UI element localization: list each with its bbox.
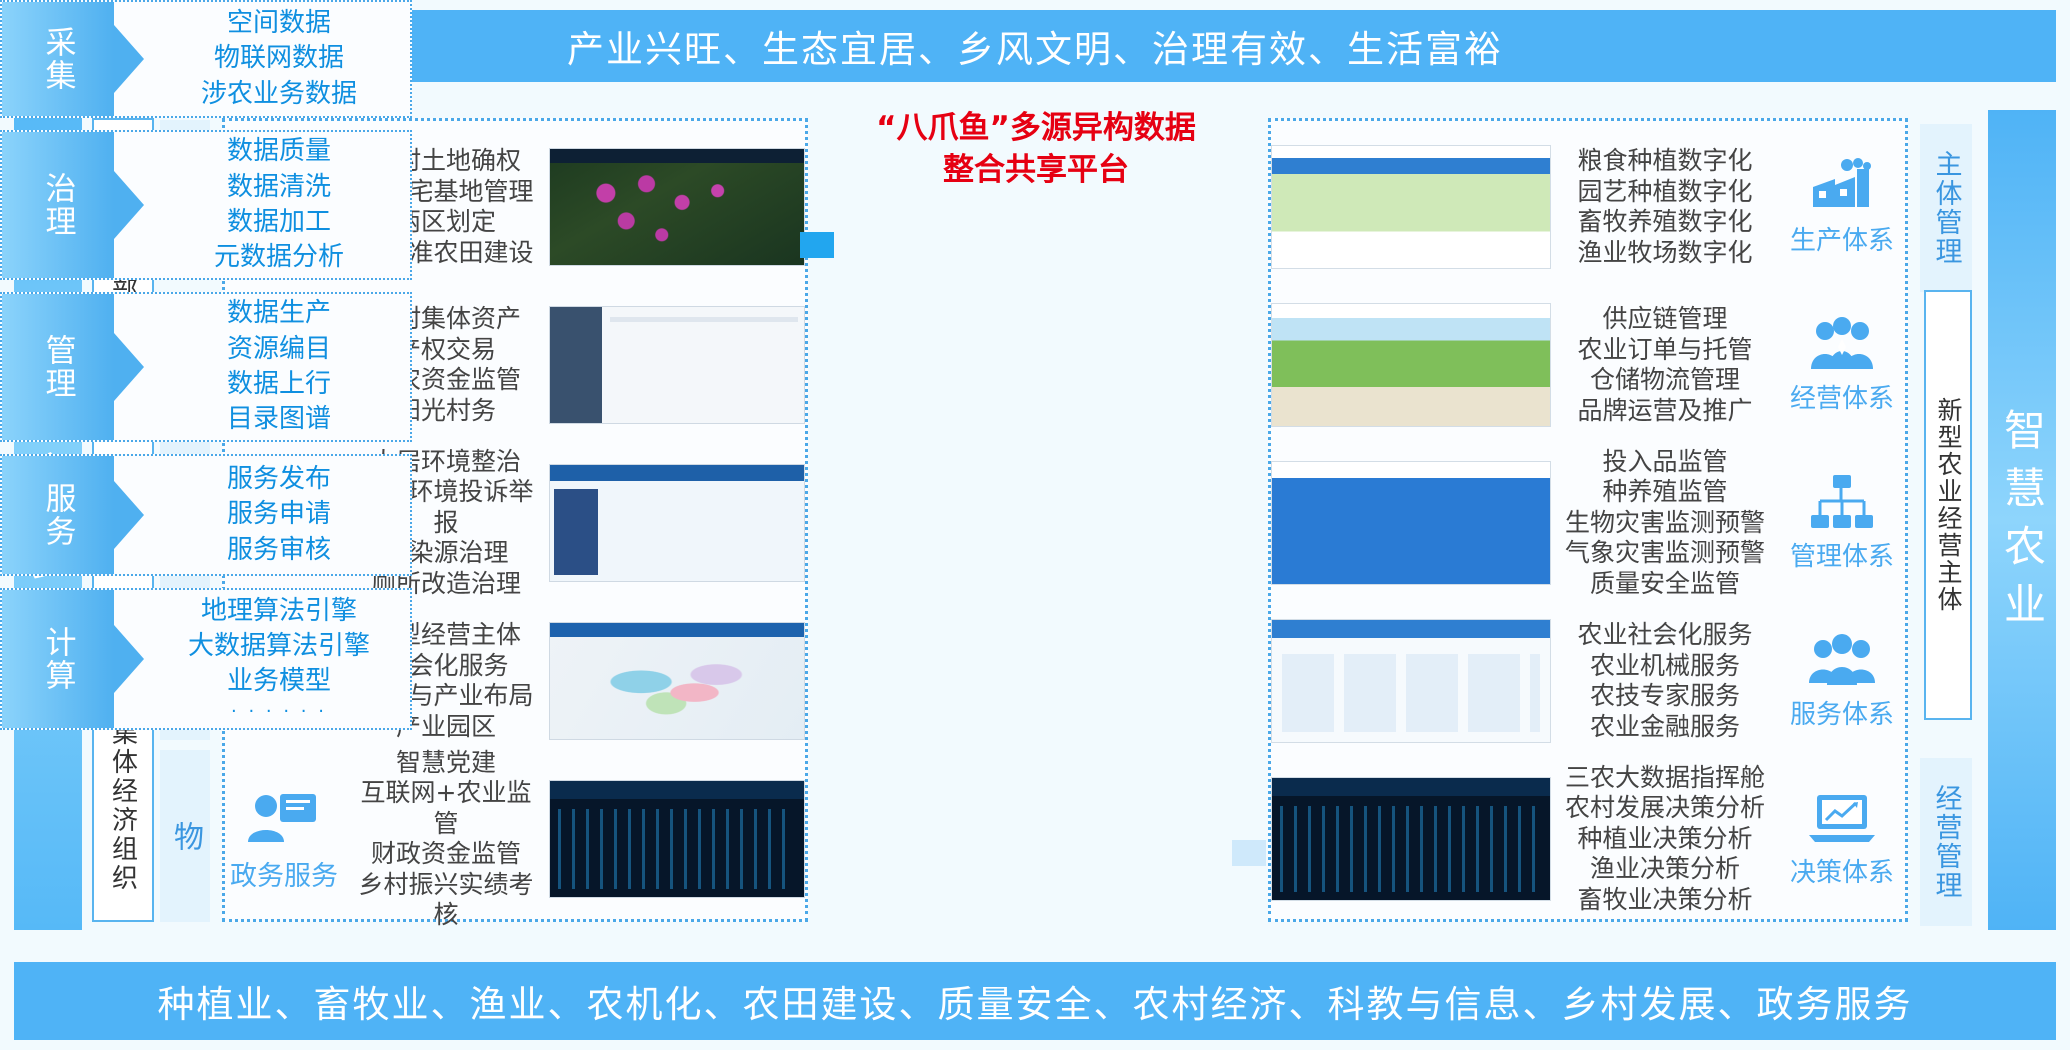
stage-collect[interactable]: 采集 空间数据 物联网数据 涉农业务数据 bbox=[0, 0, 412, 118]
stage-item: 数据生产 bbox=[227, 296, 331, 331]
system-row[interactable]: 三农大数据指挥舱 农村发展决策分析 种植业决策分析 渔业决策分析 畜牧业决策分析… bbox=[1271, 765, 1905, 913]
feature-row[interactable]: 政务服务 智慧党建 互联网+农业监管 财政资金监管 乡村振兴实绩考核 bbox=[225, 765, 805, 913]
screenshot-thumbnail-traceability bbox=[1271, 303, 1551, 427]
system-item: 渔业决策分析 bbox=[1555, 854, 1775, 885]
platform-title-line2: 整合共享平台 bbox=[826, 150, 1246, 192]
platform-title: “八爪鱼”多源异构数据 整合共享平台 bbox=[826, 108, 1246, 191]
bottom-banner-text: 种植业、畜牧业、渔业、农机化、农田建设、质量安全、农村经济、科教与信息、乡村发展… bbox=[158, 974, 1913, 1028]
stage-tag-label: 服务 bbox=[36, 482, 81, 548]
stage-item: 大数据算法引擎 bbox=[188, 629, 370, 664]
screenshot-thumbnail-portal bbox=[1271, 145, 1551, 269]
system-item: 农业社会化服务 bbox=[1555, 620, 1775, 651]
system-label: 管理体系 bbox=[1790, 536, 1894, 573]
stage-tag-label: 治理 bbox=[36, 172, 81, 238]
stage-manage[interactable]: 管理 数据生产 资源编目 数据上行 目录图谱 bbox=[0, 292, 412, 442]
resource-label: 物 bbox=[163, 821, 207, 851]
system-row[interactable]: 粮食种植数字化 园艺种植数字化 畜牧养殖数字化 渔业牧场数字化 生产体系 bbox=[1271, 133, 1905, 281]
stage-tag: 治理 bbox=[2, 132, 114, 278]
category-label: 主体管理 bbox=[1927, 150, 1966, 266]
feature-item: 财政资金监管 bbox=[349, 839, 543, 870]
stage-item: 物联网数据 bbox=[214, 41, 344, 76]
system-item: 生物灾害监测预警 bbox=[1555, 508, 1775, 539]
stage-item: 涉农业务数据 bbox=[201, 77, 357, 112]
feature-item: 智慧党建 bbox=[349, 748, 543, 779]
screenshot-thumbnail-dashboard bbox=[549, 464, 805, 582]
feature-item: 乡村振兴实绩考核 bbox=[349, 870, 543, 931]
system-item: 园艺种植数字化 bbox=[1555, 177, 1775, 208]
system-item: 农技专家服务 bbox=[1555, 681, 1775, 712]
category-label: 经营管理 bbox=[1927, 784, 1966, 900]
system-item: 畜牧业决策分析 bbox=[1555, 885, 1775, 916]
stage-item: 数据加工 bbox=[227, 205, 331, 240]
stage-item: 业务模型 bbox=[227, 664, 331, 699]
right-rail-smart-agriculture: 智慧农业 bbox=[1988, 110, 2056, 930]
category-subject-management: 主体管理 bbox=[1920, 124, 1972, 292]
stage-item: 数据质量 bbox=[227, 134, 331, 169]
system-row[interactable]: 投入品监管 种养殖监管 生物灾害监测预警 气象灾害监测预警 质量安全监管 管理体… bbox=[1271, 449, 1905, 597]
bottom-banner: 种植业、畜牧业、渔业、农机化、农田建设、质量安全、农村经济、科教与信息、乡村发展… bbox=[14, 962, 2056, 1040]
stage-item: 服务审核 bbox=[227, 533, 331, 568]
system-label: 服务体系 bbox=[1790, 694, 1894, 731]
stage-tag-label: 计算 bbox=[36, 626, 81, 692]
org-tree-icon: 管理体系 bbox=[1779, 473, 1905, 573]
platform-title-line1: “八爪鱼”多源异构数据 bbox=[826, 108, 1246, 150]
stage-tag-label: 采集 bbox=[36, 26, 81, 92]
system-item: 农业订单与托管 bbox=[1555, 335, 1775, 366]
system-item: 投入品监管 bbox=[1555, 447, 1775, 478]
stage-item: 服务发布 bbox=[227, 462, 331, 497]
person-screen-icon: 政务服务 bbox=[225, 786, 343, 893]
stage-tag: 服务 bbox=[2, 456, 114, 574]
stage-service[interactable]: 服务 服务发布 服务申请 服务审核 bbox=[0, 454, 412, 576]
stage-items: 地理算法引擎 大数据算法引擎 业务模型 · · · · · · bbox=[114, 590, 410, 728]
laptop-chart-icon: 决策体系 bbox=[1779, 789, 1905, 889]
category-business-management: 经营管理 bbox=[1920, 758, 1972, 926]
stage-item: 服务申请 bbox=[227, 497, 331, 532]
system-label: 生产体系 bbox=[1790, 220, 1894, 257]
diagram-root: 产业兴旺、生态宜居、乡风文明、治理有效、生活富裕 种植业、畜牧业、渔业、农机化、… bbox=[0, 0, 2070, 1050]
stage-item: 元数据分析 bbox=[214, 240, 344, 275]
system-item: 仓储物流管理 bbox=[1555, 365, 1775, 396]
stage-govern[interactable]: 治理 数据质量 数据清洗 数据加工 元数据分析 bbox=[0, 130, 412, 280]
system-item: 渔业牧场数字化 bbox=[1555, 238, 1775, 269]
stage-tag: 管理 bbox=[2, 294, 114, 440]
screenshot-thumbnail-service-portal bbox=[1271, 619, 1551, 743]
system-label: 经营体系 bbox=[1790, 378, 1894, 415]
entity-label: 新型农业经营主体 bbox=[1930, 397, 1966, 613]
system-items: 粮食种植数字化 园艺种植数字化 畜牧养殖数字化 渔业牧场数字化 bbox=[1551, 146, 1779, 268]
smart-agriculture-panel: 粮食种植数字化 园艺种植数字化 畜牧养殖数字化 渔业牧场数字化 生产体系 bbox=[1268, 118, 1908, 922]
system-item: 农村发展决策分析 bbox=[1555, 793, 1775, 824]
factory-icon: 生产体系 bbox=[1779, 157, 1905, 257]
stage-items: 数据质量 数据清洗 数据加工 元数据分析 bbox=[114, 132, 410, 278]
top-banner-text: 产业兴旺、生态宜居、乡风文明、治理有效、生活富裕 bbox=[567, 19, 1503, 73]
stage-items: 数据生产 资源编目 数据上行 目录图谱 bbox=[114, 294, 410, 440]
system-item: 气象灾害监测预警 bbox=[1555, 538, 1775, 569]
stage-compute[interactable]: 计算 地理算法引擎 大数据算法引擎 业务模型 · · · · · · bbox=[0, 588, 412, 730]
system-label: 决策体系 bbox=[1790, 852, 1894, 889]
resource-material: 物 bbox=[160, 750, 210, 922]
system-items: 供应链管理 农业订单与托管 仓储物流管理 品牌运营及推广 bbox=[1551, 304, 1779, 426]
screenshot-thumbnail-form bbox=[549, 306, 805, 424]
feature-item: 互联网+农业监管 bbox=[349, 778, 543, 839]
stage-item: 数据清洗 bbox=[227, 170, 331, 205]
connector-right-out bbox=[1232, 840, 1266, 866]
stage-item: 资源编目 bbox=[227, 332, 331, 367]
stage-item: 数据上行 bbox=[227, 367, 331, 402]
system-item: 畜牧养殖数字化 bbox=[1555, 207, 1775, 238]
screenshot-thumbnail-satellite bbox=[549, 148, 805, 266]
system-item: 农业机械服务 bbox=[1555, 651, 1775, 682]
service-people-icon: 服务体系 bbox=[1779, 631, 1905, 731]
system-items: 三农大数据指挥舱 农村发展决策分析 种植业决策分析 渔业决策分析 畜牧业决策分析 bbox=[1551, 763, 1779, 916]
feature-label: 政务服务 bbox=[230, 854, 338, 893]
system-item: 种植业决策分析 bbox=[1555, 824, 1775, 855]
new-agri-business-entity-box[interactable]: 新型农业经营主体 bbox=[1924, 290, 1972, 720]
system-item: 品牌运营及推广 bbox=[1555, 396, 1775, 427]
stage-tag: 计算 bbox=[2, 590, 114, 728]
system-item: 农业金融服务 bbox=[1555, 712, 1775, 743]
connector-left-in bbox=[800, 232, 834, 258]
screenshot-thumbnail-night-dashboard bbox=[549, 780, 805, 898]
stage-item: 目录图谱 bbox=[227, 402, 331, 437]
system-item: 供应链管理 bbox=[1555, 304, 1775, 335]
stage-items: 空间数据 物联网数据 涉农业务数据 bbox=[114, 2, 410, 116]
people-group-icon: 经营体系 bbox=[1779, 315, 1905, 415]
system-item: 粮食种植数字化 bbox=[1555, 146, 1775, 177]
stage-item: 空间数据 bbox=[227, 6, 331, 41]
system-items: 投入品监管 种养殖监管 生物灾害监测预警 气象灾害监测预警 质量安全监管 bbox=[1551, 447, 1779, 600]
right-rail-label: 智慧农业 bbox=[1992, 400, 2053, 640]
stage-tag: 采集 bbox=[2, 2, 114, 116]
screenshot-thumbnail-command-center bbox=[1271, 777, 1551, 901]
system-item: 三农大数据指挥舱 bbox=[1555, 763, 1775, 794]
feature-items: 智慧党建 互联网+农业监管 财政资金监管 乡村振兴实绩考核 bbox=[343, 748, 549, 931]
platform-stages: 采集 空间数据 物联网数据 涉农业务数据 治理 数据质量 数据清洗 数据加工 元… bbox=[0, 0, 412, 730]
stage-items: 服务发布 服务申请 服务审核 bbox=[114, 456, 410, 574]
system-row[interactable]: 供应链管理 农业订单与托管 仓储物流管理 品牌运营及推广 经营体系 bbox=[1271, 291, 1905, 439]
stage-tag-label: 管理 bbox=[36, 334, 81, 400]
system-item: 种养殖监管 bbox=[1555, 477, 1775, 508]
system-items: 农业社会化服务 农业机械服务 农技专家服务 农业金融服务 bbox=[1551, 620, 1779, 742]
screenshot-thumbnail-safety bbox=[1271, 461, 1551, 585]
system-item: 质量安全监管 bbox=[1555, 569, 1775, 600]
stage-item: · · · · · · bbox=[231, 700, 327, 724]
screenshot-thumbnail-map bbox=[549, 622, 805, 740]
system-row[interactable]: 农业社会化服务 农业机械服务 农技专家服务 农业金融服务 服务体系 bbox=[1271, 607, 1905, 755]
stage-item: 地理算法引擎 bbox=[201, 594, 357, 629]
